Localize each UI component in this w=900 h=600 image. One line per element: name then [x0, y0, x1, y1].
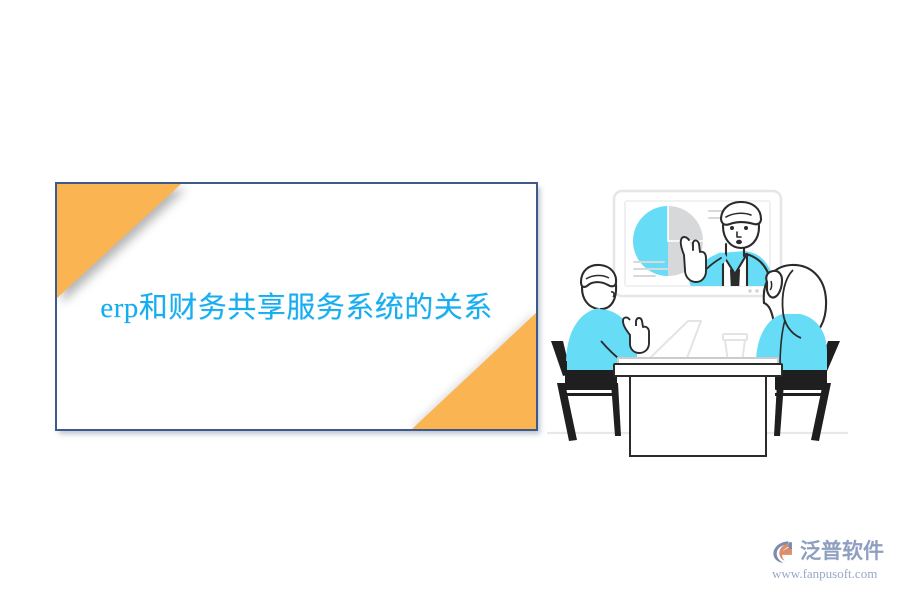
orange-corner-triangle-bottom-right-icon — [412, 313, 536, 429]
watermark-brand-name: 泛普软件 — [800, 539, 884, 563]
title-banner: erp和财务共享服务系统的关系 — [55, 182, 538, 431]
orange-corner-triangle-top-left-icon — [57, 184, 181, 298]
meeting-table — [614, 358, 782, 456]
watermark-brand-row: 泛普软件 — [770, 536, 884, 566]
meeting-illustration — [545, 178, 850, 473]
wall-screen — [614, 191, 781, 296]
fanpu-logo-icon — [770, 538, 797, 565]
person-right — [756, 265, 827, 370]
watermark-url: www.fanpusoft.com — [772, 566, 877, 582]
page-title: erp和财务共享服务系统的关系 — [57, 289, 536, 327]
watermark-logo: 泛普软件 www.fanpusoft.com — [770, 536, 892, 588]
